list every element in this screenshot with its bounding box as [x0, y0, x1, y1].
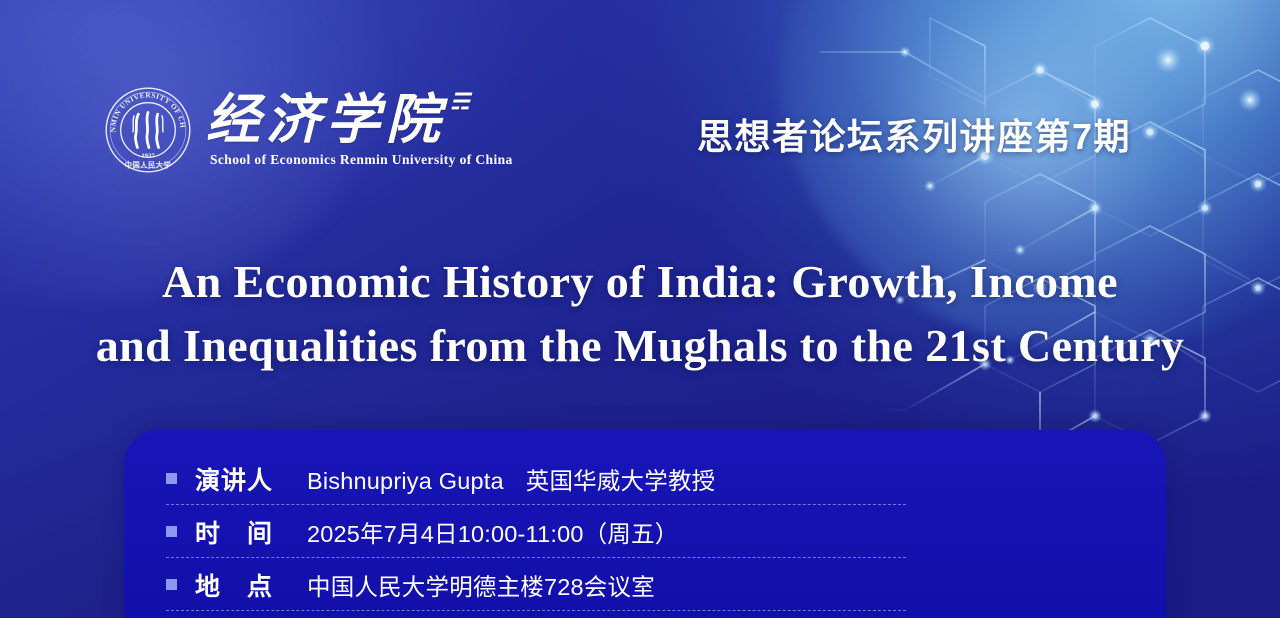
school-name-cn: 经济学院☴: [206, 93, 513, 147]
speaker-affiliation: 英国华威大学教授: [526, 468, 716, 494]
bullet-square-icon: [166, 473, 177, 484]
detail-label-time: 时 间: [195, 514, 307, 550]
series-badge: 思想者论坛系列讲座第7期: [697, 108, 1131, 160]
event-details-panel: 演讲人 Bishnupriya Gupta英国华威大学教授 时 间 2025年7…: [124, 430, 1166, 618]
detail-value-speaker: Bishnupriya Gupta英国华威大学教授: [307, 462, 715, 496]
school-logo: RENMIN UNIVERSITY OF CHINA 1937 中国人民大学 经…: [104, 86, 513, 174]
detail-row-time: 时 间 2025年7月4日10:00-11:00（周五）: [124, 505, 1166, 558]
detail-row-location: 地 点 中国人民大学明德主楼728会议室: [124, 558, 1166, 611]
detail-label-location: 地 点: [195, 567, 307, 603]
school-name-en: School of Economics Renmin University of…: [210, 152, 513, 168]
page-title: An Economic History of India: Growth, In…: [0, 250, 1280, 378]
seal-mark-icon: ☴: [450, 91, 470, 113]
bullet-square-icon: [166, 526, 177, 537]
poster-header: RENMIN UNIVERSITY OF CHINA 1937 中国人民大学 经…: [0, 0, 1280, 220]
school-logo-text: 经济学院☴ School of Economics Renmin Univers…: [206, 93, 513, 168]
detail-value-location: 中国人民大学明德主楼728会议室: [307, 568, 655, 602]
university-seal-icon: RENMIN UNIVERSITY OF CHINA 1937 中国人民大学: [104, 86, 192, 174]
title-line-2: and Inequalities from the Mughals to the…: [0, 314, 1280, 378]
detail-row-speaker: 演讲人 Bishnupriya Gupta英国华威大学教授: [124, 452, 1166, 505]
speaker-name: Bishnupriya Gupta: [307, 468, 504, 494]
title-line-1: An Economic History of India: Growth, In…: [0, 250, 1280, 314]
detail-label-speaker: 演讲人: [195, 461, 307, 497]
lecture-poster: RENMIN UNIVERSITY OF CHINA 1937 中国人民大学 经…: [0, 0, 1280, 618]
svg-text:1937: 1937: [141, 152, 155, 159]
school-name-cn-text: 经济学院: [206, 90, 446, 150]
row-divider: [166, 610, 906, 611]
svg-text:中国人民大学: 中国人民大学: [125, 160, 171, 169]
detail-value-time: 2025年7月4日10:00-11:00（周五）: [307, 515, 678, 549]
bullet-square-icon: [166, 579, 177, 590]
